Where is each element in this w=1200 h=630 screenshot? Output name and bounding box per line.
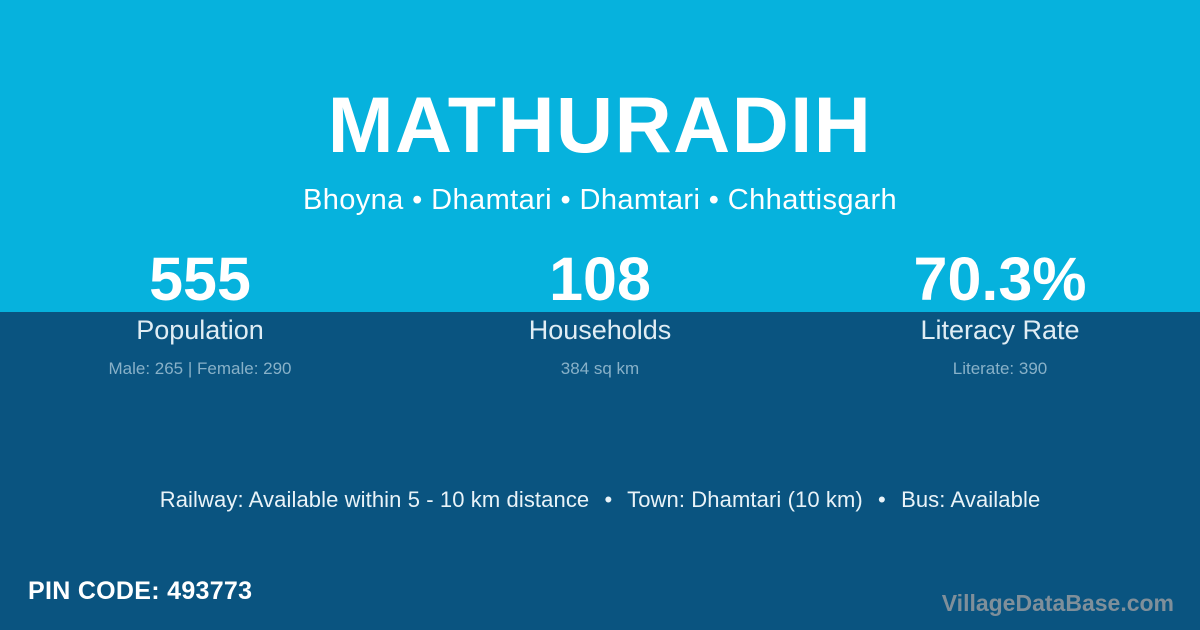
stat-literacy-detail: Literate: 390: [800, 357, 1200, 381]
stat-literacy: 70.3% Literacy Rate Literate: 390: [800, 246, 1200, 381]
stat-literacy-label: Literacy Rate: [800, 313, 1200, 347]
stat-population-value: 555: [0, 246, 400, 312]
pin-code: PIN CODE: 493773: [28, 575, 252, 607]
amenity-separator-icon: •: [869, 487, 895, 512]
stat-households: 108 Households 384 sq km: [400, 246, 800, 381]
page-title: MATHURADIH: [0, 82, 1200, 168]
breadcrumb: Bhoyna • Dhamtari • Dhamtari • Chhattisg…: [0, 182, 1200, 218]
site-watermark: VillageDataBase.com: [942, 588, 1174, 618]
stat-literacy-value: 70.3%: [800, 246, 1200, 312]
stats-row: 555 Population Male: 265 | Female: 290 1…: [0, 246, 1200, 381]
stat-population-label: Population: [0, 313, 400, 347]
amenity-town: Town: Dhamtari (10 km): [627, 487, 863, 512]
village-info-card: MATHURADIH Bhoyna • Dhamtari • Dhamtari …: [0, 0, 1200, 630]
stat-households-value: 108: [400, 246, 800, 312]
amenity-railway: Railway: Available within 5 - 10 km dist…: [160, 487, 590, 512]
stat-households-label: Households: [400, 313, 800, 347]
amenity-separator-icon: •: [595, 487, 621, 512]
amenities-line: Railway: Available within 5 - 10 km dist…: [0, 485, 1200, 515]
amenity-bus: Bus: Available: [901, 487, 1040, 512]
stat-population: 555 Population Male: 265 | Female: 290: [0, 246, 400, 381]
stat-population-detail: Male: 265 | Female: 290: [0, 357, 400, 381]
stat-households-detail: 384 sq km: [400, 357, 800, 381]
